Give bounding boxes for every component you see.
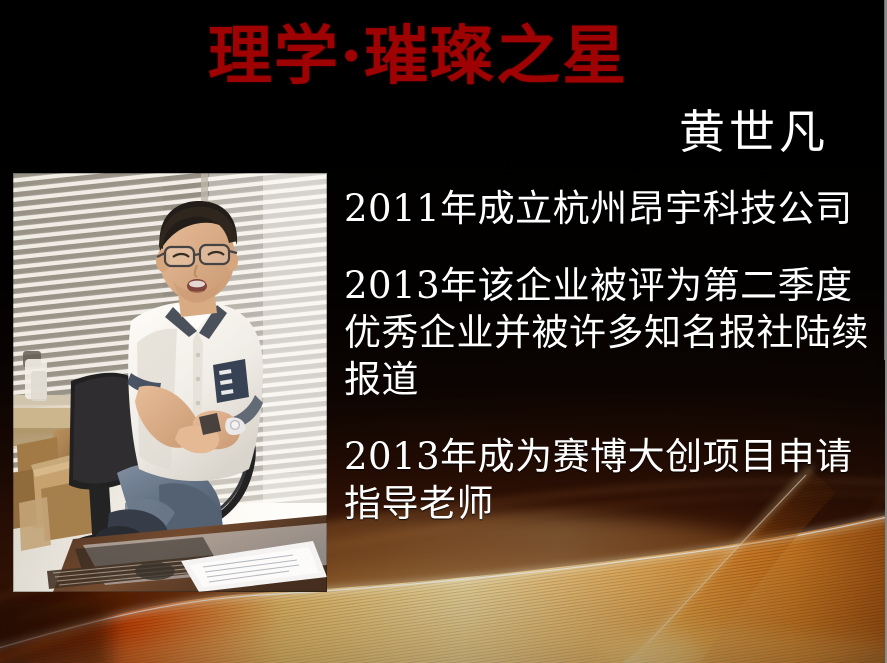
person-name: 黄世凡: [679, 104, 829, 160]
body-paragraph-3: 2013年成为赛博大创项目申请指导老师: [344, 433, 874, 527]
presentation-slide: 理学·璀璨之星 黄世凡: [0, 0, 887, 663]
page-title: 理学·璀璨之星: [208, 20, 628, 94]
body-text-column: 2011年成立杭州昂宇科技公司 2013年该企业被评为第二季度优秀企业并被许多知…: [344, 185, 874, 527]
body-paragraph-2: 2013年该企业被评为第二季度优秀企业并被许多知名报社陆续报道: [344, 262, 874, 403]
person-photo: [13, 173, 327, 592]
slide-right-edge-segment: [884, 0, 885, 360]
body-paragraph-1: 2011年成立杭州昂宇科技公司: [344, 185, 874, 232]
